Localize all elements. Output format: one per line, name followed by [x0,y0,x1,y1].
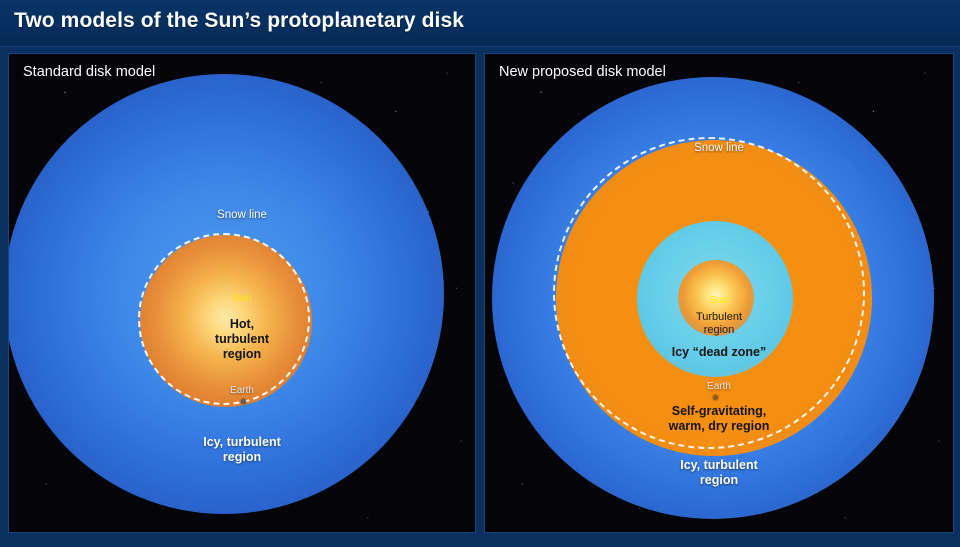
page-title: Two models of the Sun’s protoplanetary d… [14,9,464,33]
left-snow-line-label: Snow line [9,209,475,223]
left-earth-marker-icon [241,399,246,404]
right-self-gravitating-label: Self-gravitating, warm, dry region [485,404,953,434]
right-dead-zone-label: Icy “dead zone” [485,345,953,360]
figure-root: Two models of the Sun’s protoplanetary d… [0,0,960,547]
left-icy-region-label: Icy, turbulent region [9,435,475,465]
panel-left-title: Standard disk model [23,64,155,80]
right-snow-line-ring [553,137,865,449]
right-turbulent-region-label: Turbulent region [485,311,953,337]
right-sun-label: Sun [485,294,953,306]
right-earth-label: Earth [485,381,953,393]
footer-bar [0,533,960,547]
left-earth-label: Earth [9,385,475,397]
left-hot-region-label: Hot, turbulent region [9,317,475,361]
right-snow-line-label: Snow line [485,142,953,156]
right-icy-region-label: Icy, turbulent region [485,458,953,488]
panel-standard-disk-model: Standard disk model Snow line Sun Hot, t… [8,53,476,533]
panel-new-proposed-disk-model: New proposed disk model Snow line Sun Tu… [484,53,954,533]
panel-right-title: New proposed disk model [499,64,666,80]
header-bar: Two models of the Sun’s protoplanetary d… [0,0,960,47]
right-earth-marker-icon [713,395,718,400]
left-sun-label: Sun [9,292,475,304]
